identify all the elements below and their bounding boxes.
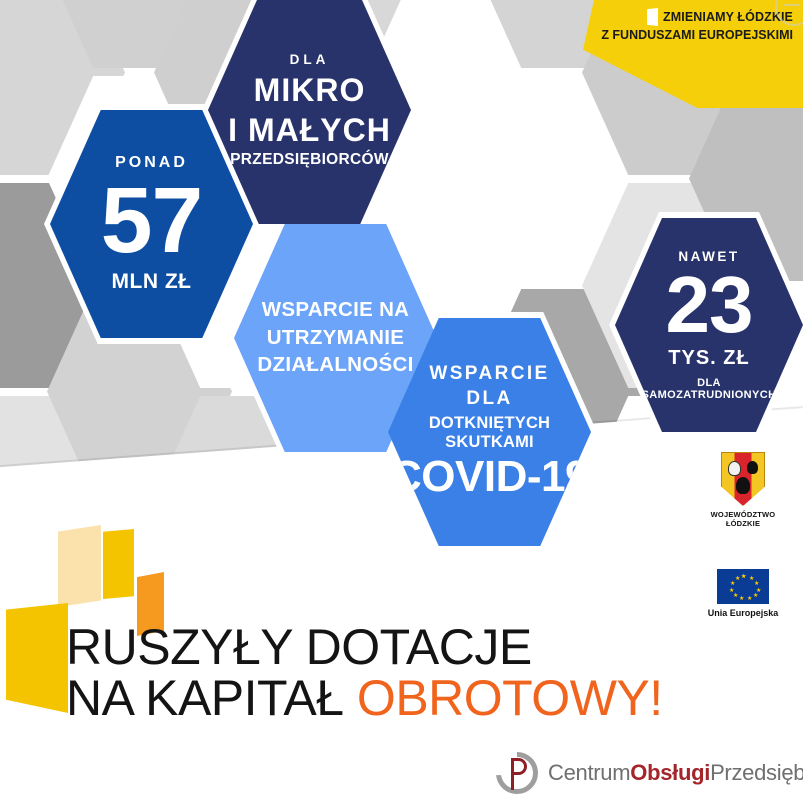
- support-line-3: DZIAŁALNOŚCI: [257, 354, 413, 377]
- amount-value: 57: [101, 168, 202, 272]
- infographic-poster: ZMIENIAMY ŁÓDZKIE Z FUNDUSZAMI EUROPEJSK…: [0, 0, 803, 812]
- max-amount-unit: TYS. ZŁ: [668, 347, 749, 369]
- book-icon: [647, 8, 658, 26]
- covid-line-2: DLA: [466, 388, 512, 409]
- cop-logo-text: CentrumObsługiPrzedsiębiorcy: [548, 760, 803, 786]
- support-line-2: UTRZYMANIE: [267, 327, 404, 350]
- decorative-shape-yellow-small: [103, 529, 134, 599]
- eu-flag-icon: ★ ★ ★ ★ ★ ★ ★ ★ ★ ★ ★ ★: [717, 569, 769, 604]
- covid-line-1: WSPARCIE: [429, 363, 549, 384]
- decorative-shape-yellow-large: [6, 603, 68, 713]
- voivodeship-caption-line-1: WOJEWÓDZTWO: [711, 510, 776, 519]
- cop-p-monogram-icon: [496, 752, 538, 794]
- max-amount-sub-2: SAMOZATRUDNIONYCH: [642, 389, 777, 401]
- headline-line-1: RUSZYŁY DOTACJE: [66, 619, 532, 675]
- eu-caption: Unia Europejska: [697, 608, 789, 618]
- beneficiaries-line-4: PRZEDSIĘBIORCÓW: [230, 151, 389, 168]
- institution-logos: WOJEWÓDZTWO ŁÓDZKIE ★ ★ ★ ★ ★ ★ ★ ★ ★ ★ …: [697, 452, 789, 618]
- banner-line-2: Z FUNDUSZAMI EUROPEJSKIMI: [601, 28, 793, 42]
- covid-line-3: DOTKNIĘTYCH SKUTKAMI: [388, 414, 591, 451]
- support-line-1: WSPARCIE NA: [262, 299, 410, 322]
- max-amount-value: 23: [666, 260, 753, 350]
- amount-unit: MLN ZŁ: [112, 270, 192, 294]
- beneficiaries-line-2: MIKRO: [254, 73, 366, 109]
- cop-text-part-1: Centrum: [548, 760, 630, 785]
- beneficiaries-line-3: I MAŁYCH: [228, 113, 391, 149]
- covid-line-4: COVID-19: [390, 452, 589, 501]
- eu-program-banner-text: ZMIENIAMY ŁÓDZKIE Z FUNDUSZAMI EUROPEJSK…: [583, 0, 803, 108]
- page-title: RUSZYŁY DOTACJE NA KAPITAŁ OBROTOWY!: [66, 622, 663, 724]
- banner-line-1: ZMIENIAMY ŁÓDZKIE: [663, 10, 793, 24]
- max-amount-sub-1: DLA: [697, 377, 721, 389]
- beneficiaries-line-1: DLA: [290, 52, 330, 67]
- headline-line-2-black: NA KAPITAŁ: [66, 670, 357, 726]
- voivodeship-caption: WOJEWÓDZTWO ŁÓDZKIE: [697, 510, 789, 529]
- decorative-shape-cream: [58, 525, 101, 607]
- cop-text-part-2: Obsługi: [630, 760, 710, 785]
- lodzkie-coat-of-arms-icon: [721, 452, 765, 506]
- voivodeship-caption-line-2: ŁÓDZKIE: [726, 519, 760, 528]
- cop-text-part-3: Przedsiębiorcy: [710, 760, 803, 785]
- cop-logo: CentrumObsługiPrzedsiębiorcy: [496, 752, 803, 794]
- headline-line-2-accent: OBROTOWY!: [357, 670, 663, 726]
